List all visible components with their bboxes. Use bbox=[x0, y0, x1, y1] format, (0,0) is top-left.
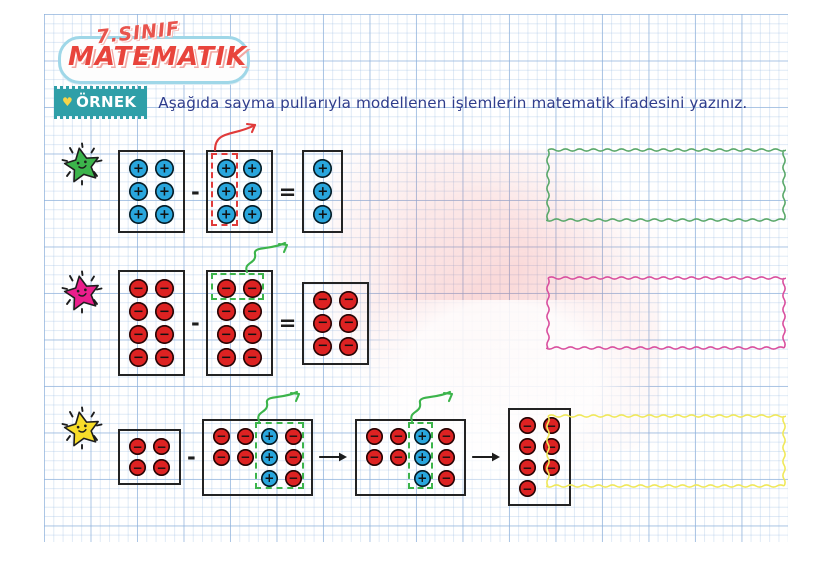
minus-sign-icon: − bbox=[132, 441, 142, 453]
plus-sign-icon: + bbox=[133, 185, 144, 198]
ornek-tag: ♥ ÖRNEK bbox=[54, 89, 147, 116]
counter-cell-negative: − bbox=[213, 449, 230, 466]
negative-counter-chip: − bbox=[243, 302, 262, 321]
counter-cell-negative: − bbox=[366, 428, 383, 445]
negative-counter-chip: − bbox=[243, 348, 262, 367]
plus-sign-icon: + bbox=[317, 208, 328, 221]
minus-sign-icon: − bbox=[317, 317, 328, 330]
minus-sign-icon: − bbox=[247, 282, 258, 295]
negative-counter-chip: − bbox=[129, 302, 148, 321]
plus-sign-icon: + bbox=[417, 472, 427, 484]
counter-cell-negative: − bbox=[155, 279, 174, 298]
minus-operator: - bbox=[185, 180, 206, 204]
minus-operator: - bbox=[185, 311, 206, 335]
counter-cell-positive: + bbox=[313, 182, 332, 201]
counter-cell-negative: − bbox=[129, 279, 148, 298]
plus-sign-icon: + bbox=[221, 185, 232, 198]
plus-sign-icon: + bbox=[264, 430, 274, 442]
pink-star-icon bbox=[58, 268, 106, 316]
counter-box: −−−−−− bbox=[302, 282, 369, 365]
negative-counter-chip: − bbox=[390, 449, 407, 466]
counter-cell-negative: − bbox=[153, 459, 170, 476]
step-arrow-icon bbox=[313, 449, 355, 465]
minus-sign-icon: − bbox=[156, 441, 166, 453]
counter-cell-negative: − bbox=[243, 279, 262, 298]
counter-cell-negative: − bbox=[243, 302, 262, 321]
counter-cell-negative: − bbox=[237, 449, 254, 466]
answer-box-3[interactable] bbox=[546, 414, 786, 488]
minus-sign-icon: − bbox=[133, 305, 144, 318]
negative-counter-chip: − bbox=[366, 449, 383, 466]
minus-sign-icon: − bbox=[369, 451, 379, 463]
negative-counter-chip: − bbox=[313, 314, 332, 333]
counter-cell-negative: − bbox=[339, 291, 358, 310]
positive-counter-chip: + bbox=[313, 182, 332, 201]
counter-cell-positive: + bbox=[243, 159, 262, 178]
counter-cell-negative: − bbox=[519, 417, 536, 434]
model-box-wrapper: −−−− bbox=[118, 429, 181, 485]
counter-cell-positive: + bbox=[261, 449, 278, 466]
minus-sign-icon: − bbox=[288, 430, 298, 442]
positive-counter-chip: + bbox=[243, 159, 262, 178]
negative-counter-chip: − bbox=[129, 325, 148, 344]
equals-operator: = bbox=[273, 311, 303, 335]
negative-counter-chip: − bbox=[237, 428, 254, 445]
brand-logo: 7.SINIF MATEMATIK bbox=[52, 20, 252, 82]
counter-cell-negative: − bbox=[519, 459, 536, 476]
plus-sign-icon: + bbox=[159, 185, 170, 198]
plus-sign-icon: + bbox=[317, 162, 328, 175]
negative-counter-chip: − bbox=[129, 438, 146, 455]
counter-cell-positive: + bbox=[414, 428, 431, 445]
counter-box: −−+−−−+−+− bbox=[202, 419, 313, 496]
counter-cell-negative: − bbox=[155, 325, 174, 344]
minus-sign-icon: − bbox=[133, 351, 144, 364]
counter-cell-negative: − bbox=[390, 428, 407, 445]
minus-sign-icon: − bbox=[522, 483, 532, 495]
yellow-star-icon bbox=[58, 404, 106, 452]
model-box-wrapper: ++++++ bbox=[206, 150, 273, 233]
counter-cell-negative: − bbox=[366, 449, 383, 466]
counter-cell-positive: + bbox=[261, 470, 278, 487]
negative-counter-chip: − bbox=[390, 428, 407, 445]
positive-counter-chip: + bbox=[261, 449, 278, 466]
positive-counter-chip: + bbox=[217, 205, 236, 224]
negative-counter-chip: − bbox=[243, 325, 262, 344]
negative-counter-chip: − bbox=[313, 291, 332, 310]
model-box-wrapper: −−−−−−−− bbox=[118, 270, 185, 376]
minus-sign-icon: − bbox=[159, 328, 170, 341]
counter-cell-positive: + bbox=[217, 182, 236, 201]
counter-cell-positive: + bbox=[155, 205, 174, 224]
minus-sign-icon: − bbox=[216, 451, 226, 463]
minus-sign-icon: − bbox=[221, 282, 232, 295]
counter-cell-negative: − bbox=[313, 314, 332, 333]
model-box-wrapper: −−−−−−−− bbox=[206, 270, 273, 376]
counter-cell-negative: − bbox=[438, 428, 455, 445]
counter-cell-positive: + bbox=[414, 449, 431, 466]
counter-cell-positive: + bbox=[217, 205, 236, 224]
counter-cell-positive: + bbox=[129, 159, 148, 178]
counter-cell-positive: + bbox=[155, 159, 174, 178]
plus-sign-icon: + bbox=[133, 162, 144, 175]
negative-counter-chip: − bbox=[155, 325, 174, 344]
heart-icon: ♥ bbox=[62, 96, 73, 108]
step-arrow-icon bbox=[466, 449, 508, 465]
negative-counter-chip: − bbox=[438, 470, 455, 487]
minus-sign-icon: − bbox=[441, 472, 451, 484]
minus-sign-icon: − bbox=[369, 430, 379, 442]
negative-counter-chip: − bbox=[285, 449, 302, 466]
plus-sign-icon: + bbox=[247, 162, 258, 175]
minus-sign-icon: − bbox=[247, 351, 258, 364]
negative-counter-chip: − bbox=[339, 337, 358, 356]
plus-sign-icon: + bbox=[159, 208, 170, 221]
minus-sign-icon: − bbox=[240, 451, 250, 463]
positive-counter-chip: + bbox=[243, 182, 262, 201]
negative-counter-chip: − bbox=[366, 428, 383, 445]
counter-cell-negative: − bbox=[339, 314, 358, 333]
counter-cell-positive: + bbox=[313, 205, 332, 224]
negative-counter-chip: − bbox=[243, 279, 262, 298]
logo-subject-label: MATEMATIK bbox=[68, 42, 247, 72]
minus-sign-icon: − bbox=[159, 282, 170, 295]
model-box-wrapper: −−+−−−+−+− bbox=[202, 419, 313, 496]
counter-box: −−−− bbox=[118, 429, 181, 485]
positive-counter-chip: + bbox=[129, 205, 148, 224]
counter-cell-negative: − bbox=[213, 428, 230, 445]
counter-cell-negative: − bbox=[243, 348, 262, 367]
model-expression: ++++++-++++++=+++ bbox=[118, 150, 343, 233]
counter-cell-negative: − bbox=[217, 348, 236, 367]
minus-sign-icon: − bbox=[221, 351, 232, 364]
model-box-wrapper: ++++++ bbox=[118, 150, 185, 233]
counter-cell-positive: + bbox=[261, 428, 278, 445]
minus-sign-icon: − bbox=[393, 451, 403, 463]
plus-sign-icon: + bbox=[247, 208, 258, 221]
counter-cell-negative: − bbox=[390, 449, 407, 466]
equals-operator: = bbox=[273, 180, 303, 204]
minus-sign-icon: − bbox=[343, 317, 354, 330]
negative-counter-chip: − bbox=[217, 302, 236, 321]
positive-counter-chip: + bbox=[313, 159, 332, 178]
minus-sign-icon: − bbox=[441, 430, 451, 442]
counter-cell-negative: − bbox=[339, 337, 358, 356]
minus-sign-icon: − bbox=[317, 340, 328, 353]
plus-sign-icon: + bbox=[264, 472, 274, 484]
minus-sign-icon: − bbox=[221, 328, 232, 341]
negative-counter-chip: − bbox=[237, 449, 254, 466]
minus-sign-icon: − bbox=[247, 305, 258, 318]
negative-counter-chip: − bbox=[217, 279, 236, 298]
counter-cell-negative: − bbox=[285, 470, 302, 487]
positive-counter-chip: + bbox=[217, 182, 236, 201]
counter-cell-positive: + bbox=[414, 470, 431, 487]
plus-sign-icon: + bbox=[417, 430, 427, 442]
counter-cell-empty bbox=[213, 470, 230, 487]
counter-cell-positive: + bbox=[313, 159, 332, 178]
counter-cell-empty bbox=[366, 470, 383, 487]
counter-cell-positive: + bbox=[217, 159, 236, 178]
minus-sign-icon: − bbox=[317, 294, 328, 307]
plus-sign-icon: + bbox=[221, 208, 232, 221]
example-header: ♥ ÖRNEK Aşağıda sayma pullarıyla modelle… bbox=[54, 89, 747, 116]
green-star-icon bbox=[58, 140, 106, 188]
counter-box: −−+−−−+−+− bbox=[355, 419, 466, 496]
negative-counter-chip: − bbox=[217, 348, 236, 367]
plus-sign-icon: + bbox=[264, 451, 274, 463]
instruction-text: Aşağıda sayma pullarıyla modellenen işle… bbox=[158, 94, 747, 112]
plus-sign-icon: + bbox=[133, 208, 144, 221]
minus-sign-icon: − bbox=[343, 340, 354, 353]
worksheet-page: 7.SINIF MATEMATIK ♥ ÖRNEK Aşağıda sayma … bbox=[0, 0, 828, 586]
minus-sign-icon: − bbox=[393, 430, 403, 442]
counter-cell-negative: − bbox=[129, 325, 148, 344]
positive-counter-chip: + bbox=[414, 470, 431, 487]
minus-sign-icon: − bbox=[240, 430, 250, 442]
minus-sign-icon: − bbox=[522, 441, 532, 453]
negative-counter-chip: − bbox=[155, 302, 174, 321]
minus-sign-icon: − bbox=[156, 462, 166, 474]
negative-counter-chip: − bbox=[155, 279, 174, 298]
counter-cell-negative: − bbox=[129, 348, 148, 367]
counter-cell-negative: − bbox=[285, 449, 302, 466]
negative-counter-chip: − bbox=[285, 428, 302, 445]
model-box-wrapper: −−+−−−+−+− bbox=[355, 419, 466, 496]
model-box-wrapper: +++ bbox=[302, 150, 343, 233]
positive-counter-chip: + bbox=[243, 205, 262, 224]
counter-cell-negative: − bbox=[519, 438, 536, 455]
counter-cell-empty bbox=[237, 470, 254, 487]
counter-cell-negative: − bbox=[243, 325, 262, 344]
counter-cell-empty bbox=[390, 470, 407, 487]
minus-sign-icon: − bbox=[133, 282, 144, 295]
counter-cell-negative: − bbox=[129, 302, 148, 321]
plus-sign-icon: + bbox=[159, 162, 170, 175]
negative-counter-chip: − bbox=[519, 480, 536, 497]
minus-sign-icon: − bbox=[159, 351, 170, 364]
minus-sign-icon: − bbox=[522, 420, 532, 432]
counter-cell-negative: − bbox=[438, 449, 455, 466]
negative-counter-chip: − bbox=[213, 428, 230, 445]
minus-sign-icon: − bbox=[522, 462, 532, 474]
counter-box: −−−−−−−− bbox=[206, 270, 273, 376]
positive-counter-chip: + bbox=[217, 159, 236, 178]
counter-box: +++ bbox=[302, 150, 343, 233]
minus-sign-icon: − bbox=[159, 305, 170, 318]
minus-sign-icon: − bbox=[221, 305, 232, 318]
plus-sign-icon: + bbox=[317, 185, 328, 198]
positive-counter-chip: + bbox=[414, 449, 431, 466]
positive-counter-chip: + bbox=[155, 205, 174, 224]
counter-cell-positive: + bbox=[129, 205, 148, 224]
counter-cell-negative: − bbox=[313, 291, 332, 310]
counter-cell-negative: − bbox=[285, 428, 302, 445]
answer-box-1[interactable] bbox=[546, 148, 786, 222]
minus-operator: - bbox=[181, 445, 202, 469]
negative-counter-chip: − bbox=[519, 459, 536, 476]
positive-counter-chip: + bbox=[129, 159, 148, 178]
negative-counter-chip: − bbox=[519, 438, 536, 455]
negative-counter-chip: − bbox=[217, 325, 236, 344]
counter-box: ++++++ bbox=[206, 150, 273, 233]
minus-sign-icon: − bbox=[441, 451, 451, 463]
positive-counter-chip: + bbox=[129, 182, 148, 201]
negative-counter-chip: − bbox=[438, 449, 455, 466]
counter-cell-positive: + bbox=[155, 182, 174, 201]
ornek-tag-label: ÖRNEK bbox=[76, 93, 136, 111]
negative-counter-chip: − bbox=[339, 314, 358, 333]
negative-counter-chip: − bbox=[155, 348, 174, 367]
negative-counter-chip: − bbox=[129, 279, 148, 298]
model-box-wrapper: −−−−−− bbox=[302, 282, 369, 365]
positive-counter-chip: + bbox=[261, 470, 278, 487]
positive-counter-chip: + bbox=[313, 205, 332, 224]
negative-counter-chip: − bbox=[213, 449, 230, 466]
counter-cell-negative: − bbox=[155, 348, 174, 367]
minus-sign-icon: − bbox=[343, 294, 354, 307]
counter-cell-negative: − bbox=[129, 438, 146, 455]
counter-cell-negative: − bbox=[519, 480, 536, 497]
counter-box: −−−−−−−− bbox=[118, 270, 185, 376]
model-expression: −−−−-−−+−−−+−+−−−+−−−+−+−−−−−−−− bbox=[118, 408, 571, 506]
negative-counter-chip: − bbox=[129, 348, 148, 367]
minus-sign-icon: − bbox=[247, 328, 258, 341]
plus-sign-icon: + bbox=[417, 451, 427, 463]
negative-counter-chip: − bbox=[285, 470, 302, 487]
plus-sign-icon: + bbox=[221, 162, 232, 175]
negative-counter-chip: − bbox=[438, 428, 455, 445]
minus-sign-icon: − bbox=[216, 430, 226, 442]
positive-counter-chip: + bbox=[261, 428, 278, 445]
minus-sign-icon: − bbox=[133, 328, 144, 341]
counter-cell-positive: + bbox=[243, 182, 262, 201]
counter-cell-positive: + bbox=[243, 205, 262, 224]
negative-counter-chip: − bbox=[153, 459, 170, 476]
minus-sign-icon: − bbox=[132, 462, 142, 474]
counter-cell-negative: − bbox=[313, 337, 332, 356]
counter-cell-negative: − bbox=[129, 459, 146, 476]
plus-sign-icon: + bbox=[247, 185, 258, 198]
negative-counter-chip: − bbox=[129, 459, 146, 476]
counter-cell-negative: − bbox=[217, 302, 236, 321]
positive-counter-chip: + bbox=[155, 182, 174, 201]
counter-cell-negative: − bbox=[217, 279, 236, 298]
positive-counter-chip: + bbox=[155, 159, 174, 178]
counter-cell-negative: − bbox=[217, 325, 236, 344]
counter-cell-negative: − bbox=[237, 428, 254, 445]
model-expression: −−−−−−−−-−−−−−−−−=−−−−−− bbox=[118, 270, 369, 376]
counter-cell-negative: − bbox=[153, 438, 170, 455]
counter-cell-negative: − bbox=[438, 470, 455, 487]
positive-counter-chip: + bbox=[414, 428, 431, 445]
minus-sign-icon: − bbox=[288, 451, 298, 463]
negative-counter-chip: − bbox=[339, 291, 358, 310]
counter-cell-negative: − bbox=[155, 302, 174, 321]
counter-box: ++++++ bbox=[118, 150, 185, 233]
negative-counter-chip: − bbox=[153, 438, 170, 455]
counter-cell-positive: + bbox=[129, 182, 148, 201]
answer-box-2[interactable] bbox=[546, 276, 786, 350]
minus-sign-icon: − bbox=[288, 472, 298, 484]
negative-counter-chip: − bbox=[519, 417, 536, 434]
negative-counter-chip: − bbox=[313, 337, 332, 356]
